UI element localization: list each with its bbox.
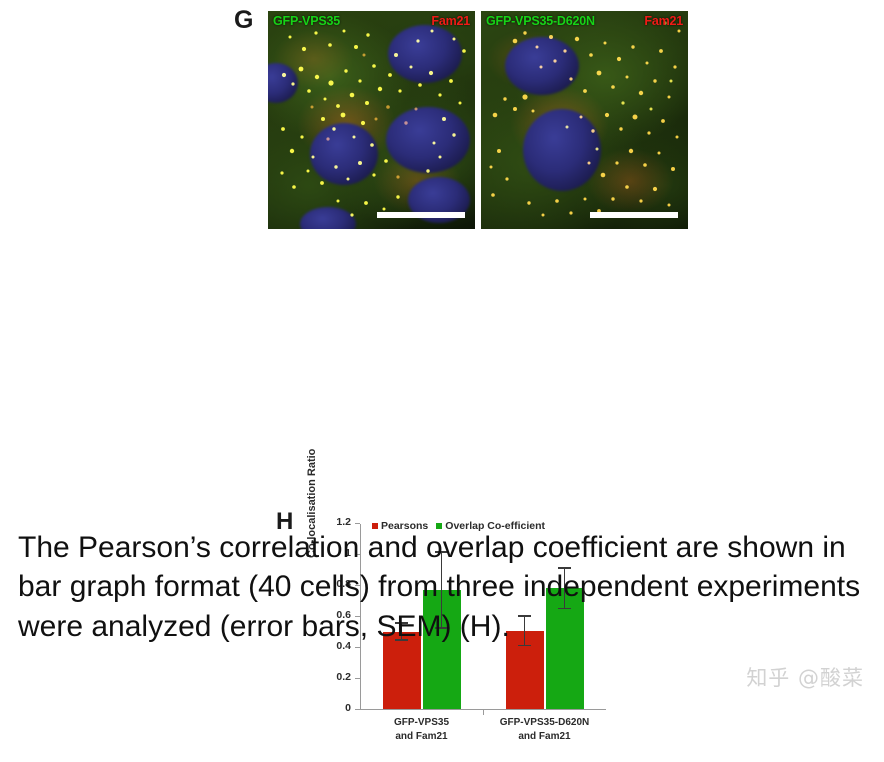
y-axis-tick: 0 (355, 709, 360, 710)
y-axis-tick-label: 1.2 (336, 516, 351, 528)
panel-h-bar-chart: H Co-localisation Ratio Pearsons Overlap… (0, 250, 884, 515)
micrograph-right-green-label: GFP-VPS35-D620N (486, 14, 595, 28)
x-axis-group-label: GFP-VPS35and Fam21 (360, 716, 483, 743)
panel-g-letter: G (234, 6, 253, 35)
y-axis-tick: 0.4 (355, 647, 360, 648)
x-axis-group-label-line: and Fam21 (360, 730, 483, 744)
micrograph-right-puncta (481, 11, 688, 229)
micrograph-left-red-label: Fam21 (431, 14, 470, 28)
scale-bar (590, 212, 678, 218)
micrograph-left-green-label: GFP-VPS35 (273, 14, 340, 28)
x-axis-group-tick (483, 710, 484, 715)
x-axis-group-label: GFP-VPS35-D620Nand Fam21 (483, 716, 606, 743)
panel-g-micrographs: G (0, 0, 884, 245)
x-axis-group-label-line: GFP-VPS35-D620N (483, 716, 606, 730)
scale-bar (377, 212, 465, 218)
y-axis-tick-label: 0 (345, 702, 351, 714)
y-axis-tick: 0.2 (355, 678, 360, 679)
micrograph-right-red-label: Fam21 (644, 14, 683, 28)
y-axis-tick: 1.2 (355, 523, 360, 524)
micrograph-right: GFP-VPS35-D620N Fam21 (481, 11, 688, 229)
figure-caption: The Pearson’s correlation and overlap co… (18, 528, 878, 646)
micrograph-left: GFP-VPS35 Fam21 (268, 11, 475, 229)
micrograph-left-puncta (268, 11, 475, 229)
x-axis-group-label-line: GFP-VPS35 (360, 716, 483, 730)
watermark: 知乎 @酸菜 (746, 662, 864, 692)
x-axis-group-label-line: and Fam21 (483, 730, 606, 744)
y-axis-tick-label: 0.2 (336, 671, 351, 683)
